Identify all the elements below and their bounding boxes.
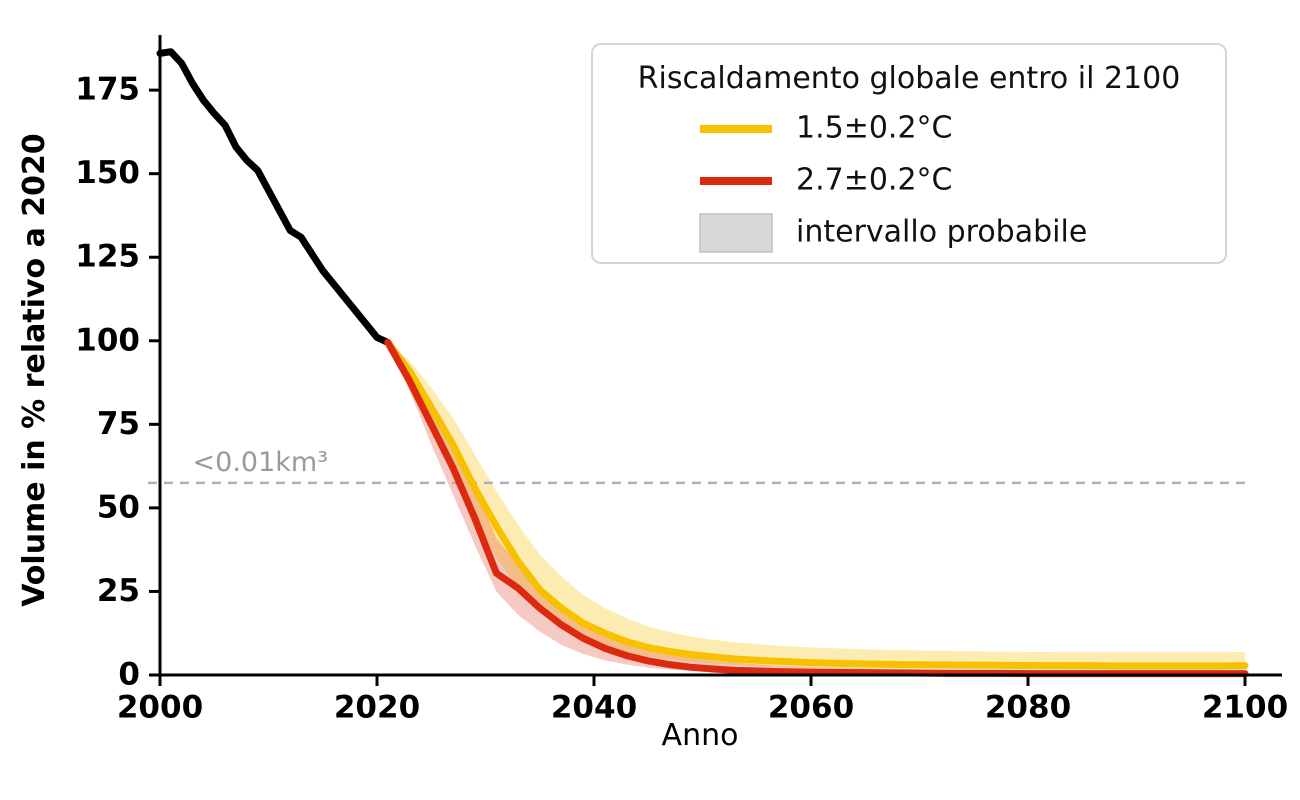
y-tick-label: 25 — [97, 573, 140, 609]
y-tick-label: 50 — [97, 489, 140, 525]
x-tick-label: 2020 — [334, 689, 420, 725]
legend-swatch-patch-icon — [700, 214, 772, 252]
legend-entry-label: 2.7±0.2°C — [796, 163, 953, 198]
x-tick-label: 2100 — [1202, 689, 1288, 725]
y-tick-label: 0 — [118, 657, 140, 693]
chart-figure: <0.01km³ 0255075100125150175200020202040… — [0, 0, 1300, 800]
x-tick-label: 2000 — [117, 689, 203, 725]
legend-entry-label: intervallo probabile — [796, 215, 1087, 250]
legend-entry-label: 1.5±0.2°C — [796, 111, 953, 146]
y-tick-label: 125 — [75, 239, 140, 275]
y-axis-title: Volume in % relativo a 2020 — [17, 133, 52, 607]
x-axis-title: Anno — [662, 718, 739, 753]
legend-title: Riscaldamento globale entro il 2100 — [638, 61, 1181, 96]
y-tick-label: 150 — [75, 155, 140, 191]
y-tick-label: 100 — [75, 322, 140, 358]
chart-legend[interactable]: Riscaldamento globale entro il 21001.5±0… — [592, 44, 1226, 263]
chart-canvas: <0.01km³ 0255075100125150175200020202040… — [0, 0, 1300, 800]
x-tick-label: 2060 — [768, 689, 854, 725]
legend-entry-3[interactable]: intervallo probabile — [700, 214, 1087, 252]
x-tick-label: 2080 — [985, 689, 1071, 725]
y-tick-label: 75 — [97, 406, 140, 442]
threshold-annotation-label: <0.01km³ — [193, 447, 329, 478]
y-tick-label: 175 — [75, 72, 140, 108]
x-tick-label: 2040 — [551, 689, 637, 725]
